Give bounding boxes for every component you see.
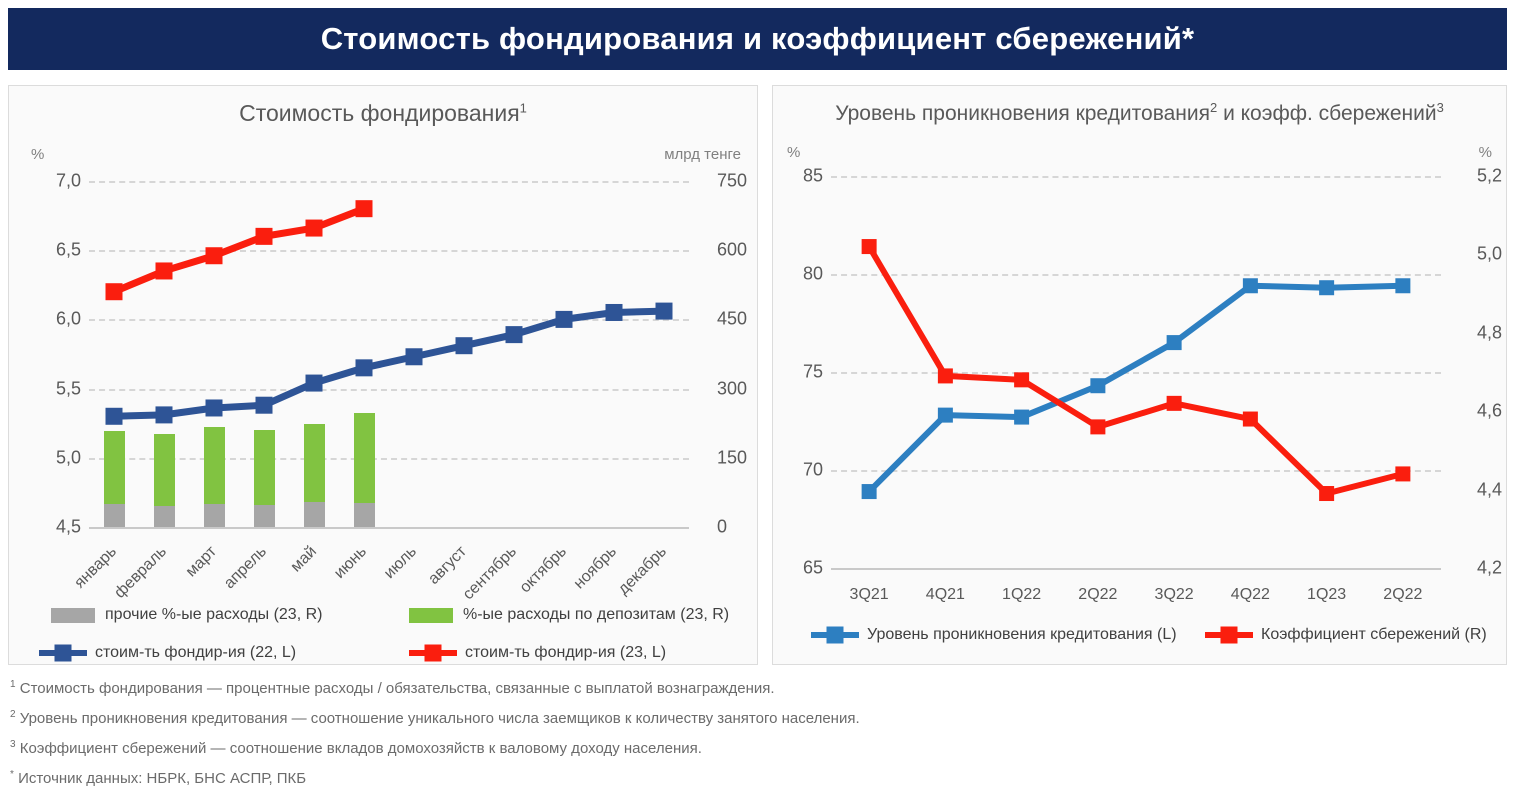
x-axis-tick: 2Q22 bbox=[1078, 586, 1117, 604]
legend-item-deposit-expenses: %-ые расходы по депозитам (23, R) bbox=[409, 606, 729, 624]
legend-swatch-red-line-right bbox=[1205, 632, 1253, 638]
series-marker bbox=[656, 303, 673, 320]
series-marker bbox=[1243, 412, 1258, 427]
legend-marker-blue-right bbox=[827, 627, 844, 644]
right-chart-title-text: Уровень проникновения кредитования bbox=[835, 102, 1210, 125]
x-axis-tick: февраль bbox=[73, 543, 171, 641]
x-axis-tick: июнь bbox=[273, 543, 371, 641]
series-marker bbox=[1319, 486, 1334, 501]
x-axis-tick: март bbox=[123, 543, 221, 641]
y-axis-tick-left: 5,5 bbox=[31, 378, 81, 399]
series-marker bbox=[256, 228, 273, 245]
y-axis-tick-right: 600 bbox=[717, 240, 747, 261]
legend-swatch-gray bbox=[51, 608, 95, 623]
series-marker bbox=[356, 200, 373, 217]
series-marker bbox=[556, 311, 573, 328]
left-chart-title-superscript: 1 bbox=[520, 100, 527, 115]
y-axis-tick-right: 5,2 bbox=[1477, 166, 1502, 187]
footnote-1: 1 Стоимость фондирования — процентные ра… bbox=[10, 672, 1210, 702]
right-chart-unit-right: % bbox=[1479, 144, 1492, 161]
footnote-source: * Источник данных: НБРК, БНС АСПР, ПКБ bbox=[10, 762, 1210, 792]
legend-marker-blue bbox=[55, 645, 72, 662]
y-axis-tick-right: 450 bbox=[717, 309, 747, 330]
y-axis-tick-right: 4,6 bbox=[1477, 401, 1502, 422]
series-marker bbox=[1167, 335, 1182, 350]
x-axis-tick: апрель bbox=[173, 543, 271, 641]
right-chart-plot-area: 85807570655,25,04,84,64,44,23Q214Q211Q22… bbox=[831, 176, 1441, 568]
y-axis-tick-right: 0 bbox=[717, 517, 727, 538]
x-axis-tick: 3Q21 bbox=[850, 586, 889, 604]
legend-label-credit-penetration: Уровень проникновения кредитования (L) bbox=[867, 626, 1177, 644]
series-marker bbox=[1090, 419, 1105, 434]
axis-baseline bbox=[831, 568, 1441, 570]
series-marker bbox=[206, 399, 223, 416]
y-axis-tick-left: 85 bbox=[785, 166, 823, 187]
series-marker bbox=[1090, 378, 1105, 393]
y-axis-tick-right: 150 bbox=[717, 447, 747, 468]
x-axis-tick: 4Q21 bbox=[926, 586, 965, 604]
y-axis-tick-right: 4,2 bbox=[1477, 558, 1502, 579]
left-chart-title: Стоимость фондирования1 bbox=[9, 100, 757, 127]
left-chart-title-text: Стоимость фондирования bbox=[239, 100, 520, 126]
series-marker bbox=[862, 239, 877, 254]
footnote-text-3: Коэффициент сбережений — соотношение вкл… bbox=[16, 740, 702, 757]
y-axis-tick-left: 4,5 bbox=[31, 517, 81, 538]
series-marker bbox=[406, 348, 423, 365]
series-marker bbox=[106, 283, 123, 300]
y-axis-tick-left: 5,0 bbox=[31, 447, 81, 468]
series-layer bbox=[831, 176, 1441, 568]
series-marker bbox=[938, 368, 953, 383]
y-axis-tick-left: 6,5 bbox=[31, 240, 81, 261]
legend-swatch-green bbox=[409, 608, 453, 623]
series-marker bbox=[456, 337, 473, 354]
x-axis-tick: 1Q22 bbox=[1002, 586, 1041, 604]
right-chart-title-superscript-3: 3 bbox=[1437, 100, 1444, 115]
chart-page: Стоимость фондирования и коэффициент сбе… bbox=[0, 0, 1515, 782]
footnotes: 1 Стоимость фондирования — процентные ра… bbox=[10, 672, 1210, 792]
series-marker bbox=[206, 247, 223, 264]
series-line bbox=[869, 286, 1403, 492]
x-axis-tick: 2Q22 bbox=[1383, 586, 1422, 604]
y-axis-tick-right: 4,8 bbox=[1477, 322, 1502, 343]
panel-funding-cost: Стоимость фондирования1 % млрд тенге 7,0… bbox=[8, 85, 758, 665]
legend-item-savings-ratio: Коэффициент сбережений (R) bbox=[1205, 626, 1487, 644]
legend-item-funding-2023: стоим-ть фондир-ия (23, L) bbox=[409, 644, 666, 662]
right-chart-title: Уровень проникновения кредитования2 и ко… bbox=[773, 100, 1506, 126]
left-chart-unit-right: млрд тенге bbox=[664, 146, 741, 163]
series-marker bbox=[156, 406, 173, 423]
right-chart-unit-left: % bbox=[787, 144, 800, 161]
series-marker bbox=[306, 375, 323, 392]
series-marker bbox=[938, 408, 953, 423]
legend-label-other-expenses: прочие %-ые расходы (23, R) bbox=[105, 606, 322, 624]
legend-label-funding-2023: стоим-ть фондир-ия (23, L) bbox=[465, 644, 666, 662]
legend-swatch-red-line bbox=[409, 650, 457, 656]
series-marker bbox=[256, 397, 273, 414]
series-line bbox=[114, 311, 664, 416]
footnote-3: 3 Коэффициент сбережений — соотношение в… bbox=[10, 732, 1210, 762]
legend-item-credit-penetration: Уровень проникновения кредитования (L) bbox=[811, 626, 1177, 644]
series-marker bbox=[506, 326, 523, 343]
series-marker bbox=[1395, 466, 1410, 481]
legend-item-other-expenses: прочие %-ые расходы (23, R) bbox=[51, 606, 322, 624]
legend-marker-red-right bbox=[1221, 627, 1238, 644]
series-line bbox=[114, 209, 364, 292]
series-marker bbox=[1014, 410, 1029, 425]
left-chart-plot-area: 7,06,56,05,55,04,57506004503001500январь… bbox=[89, 181, 689, 527]
legend-swatch-blue-line bbox=[39, 650, 87, 656]
y-axis-tick-right: 4,4 bbox=[1477, 479, 1502, 500]
series-marker bbox=[1319, 280, 1334, 295]
y-axis-tick-left: 75 bbox=[785, 362, 823, 383]
x-axis-tick: октябрь bbox=[473, 543, 571, 641]
right-chart-title-mid: и коэфф. сбережений bbox=[1217, 102, 1436, 125]
series-marker bbox=[306, 220, 323, 237]
legend-label-funding-2022: стоим-ть фондир-ия (22, L) bbox=[95, 644, 296, 662]
series-marker bbox=[106, 408, 123, 425]
footnote-text-1: Стоимость фондирования — процентные расх… bbox=[16, 680, 775, 697]
legend-item-funding-2022: стоим-ть фондир-ия (22, L) bbox=[39, 644, 296, 662]
y-axis-tick-right: 5,0 bbox=[1477, 244, 1502, 265]
x-axis-tick: декабрь bbox=[573, 543, 671, 641]
axis-baseline bbox=[89, 527, 689, 529]
page-title: Стоимость фондирования и коэффициент сбе… bbox=[321, 21, 1195, 57]
series-marker bbox=[1243, 278, 1258, 293]
panel-credit-penetration: Уровень проникновения кредитования2 и ко… bbox=[772, 85, 1507, 665]
x-axis-tick: 1Q23 bbox=[1307, 586, 1346, 604]
y-axis-tick-left: 65 bbox=[785, 558, 823, 579]
x-axis-tick: 3Q22 bbox=[1155, 586, 1194, 604]
series-marker bbox=[606, 304, 623, 321]
y-axis-tick-right: 300 bbox=[717, 378, 747, 399]
y-axis-tick-left: 80 bbox=[785, 264, 823, 285]
x-axis-tick: июль bbox=[323, 543, 421, 641]
footnote-text-2: Уровень проникновения кредитования — соо… bbox=[16, 710, 860, 727]
footnote-2: 2 Уровень проникновения кредитования — с… bbox=[10, 702, 1210, 732]
series-marker bbox=[1167, 396, 1182, 411]
legend-label-deposit-expenses: %-ые расходы по депозитам (23, R) bbox=[463, 606, 729, 624]
x-axis-tick: сентябрь bbox=[423, 543, 521, 641]
series-marker bbox=[156, 262, 173, 279]
y-axis-tick-right: 750 bbox=[717, 171, 747, 192]
page-title-banner: Стоимость фондирования и коэффициент сбе… bbox=[8, 8, 1507, 70]
x-axis-tick: 4Q22 bbox=[1231, 586, 1270, 604]
series-marker bbox=[862, 484, 877, 499]
x-axis-tick: январь bbox=[23, 543, 121, 641]
y-axis-tick-left: 7,0 bbox=[31, 171, 81, 192]
left-chart-unit-left: % bbox=[31, 146, 44, 163]
y-axis-tick-left: 70 bbox=[785, 460, 823, 481]
x-axis-tick: август bbox=[373, 543, 471, 641]
series-marker bbox=[1395, 278, 1410, 293]
footnote-text-source: Источник данных: НБРК, БНС АСПР, ПКБ bbox=[14, 770, 306, 787]
legend-marker-red bbox=[425, 645, 442, 662]
x-axis-tick: май bbox=[223, 543, 321, 641]
series-marker bbox=[356, 359, 373, 376]
series-marker bbox=[1014, 372, 1029, 387]
legend-label-savings-ratio: Коэффициент сбережений (R) bbox=[1261, 626, 1487, 644]
x-axis-tick: ноябрь bbox=[523, 543, 621, 641]
series-layer bbox=[89, 181, 689, 527]
legend-swatch-blue-line-right bbox=[811, 632, 859, 638]
y-axis-tick-left: 6,0 bbox=[31, 309, 81, 330]
